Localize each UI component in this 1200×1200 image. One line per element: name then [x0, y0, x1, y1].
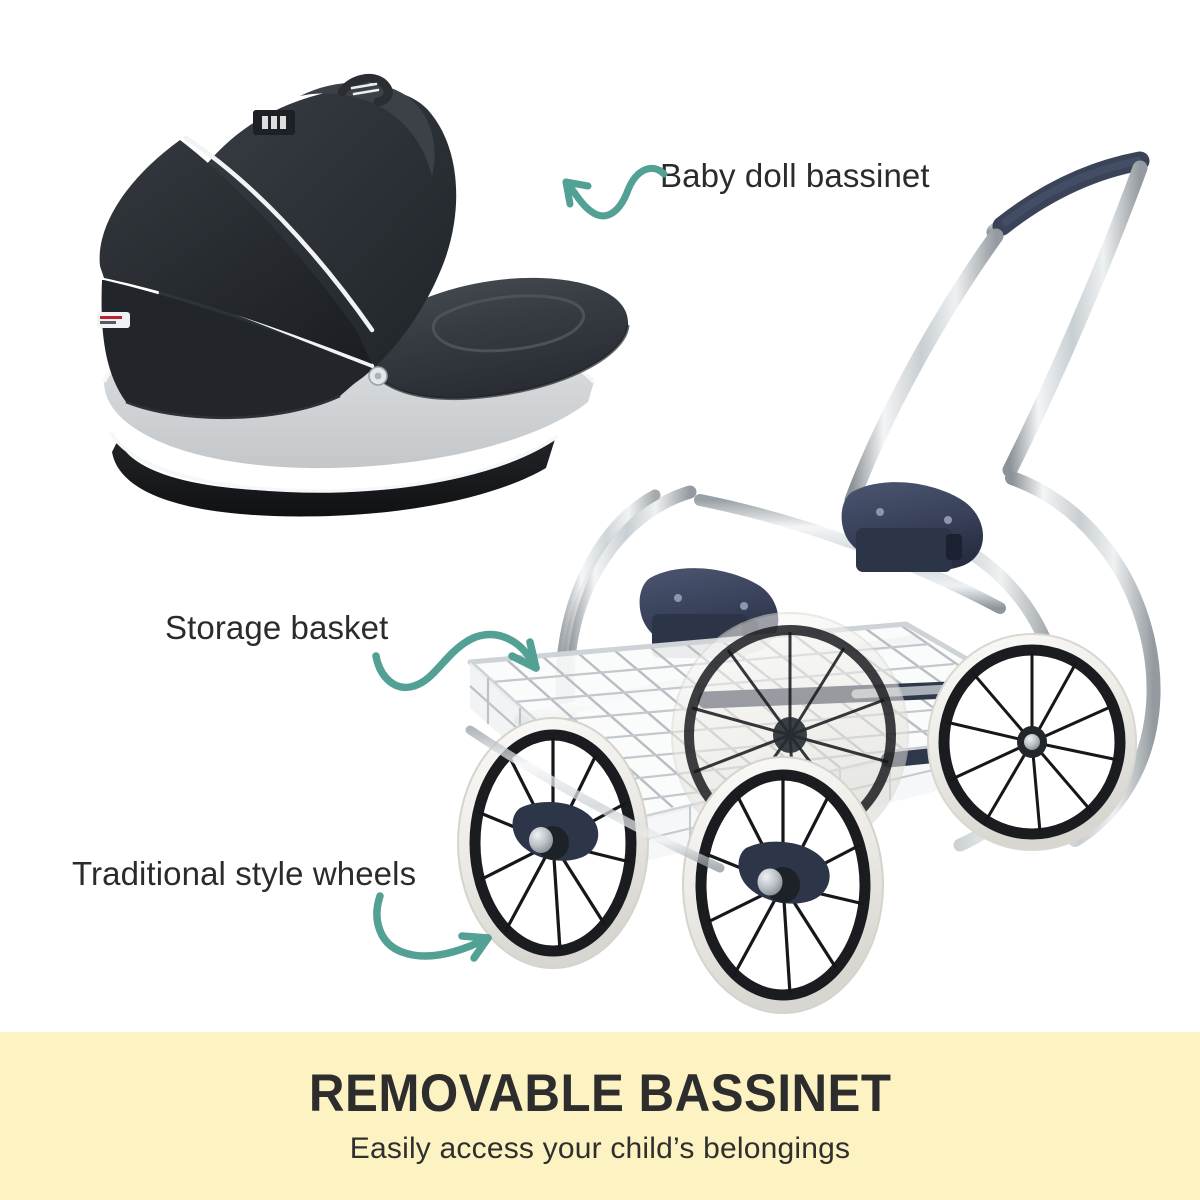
- callout-storage-basket-label: Storage basket: [165, 609, 388, 647]
- joint-bracket-upper-body: [856, 528, 952, 572]
- banner-title: REMOVABLE BASSINET: [309, 1067, 892, 1120]
- bassinet-unit: [97, 78, 628, 516]
- wheel-front-right: [683, 757, 883, 1013]
- callout-traditional-style-wheels-label: Traditional style wheels: [72, 855, 416, 893]
- wheel-front-left: [458, 718, 648, 968]
- wheel-front-right-hubcap: [758, 869, 783, 896]
- frame-upright-left: [852, 236, 996, 500]
- joint-bracket-upper: [842, 482, 983, 572]
- wheel-rear-right: [928, 634, 1136, 850]
- bassinet-brand-tag-canopy-mark: [262, 116, 286, 129]
- infographic-root: Baby doll bassinet Storage basket Tradit…: [0, 0, 1200, 1200]
- bottom-banner: REMOVABLE BASSINET Easily access your ch…: [0, 1032, 1200, 1200]
- banner-subtitle: Easily access your child’s belongings: [350, 1132, 850, 1165]
- bassinet-brand-tag-side: [97, 312, 130, 328]
- wheel-front-left-hubcap: [529, 827, 553, 853]
- product-photo-area: Baby doll bassinet Storage basket Tradit…: [0, 0, 1200, 1032]
- callout-baby-doll-bassinet-label: Baby doll bassinet: [660, 157, 930, 195]
